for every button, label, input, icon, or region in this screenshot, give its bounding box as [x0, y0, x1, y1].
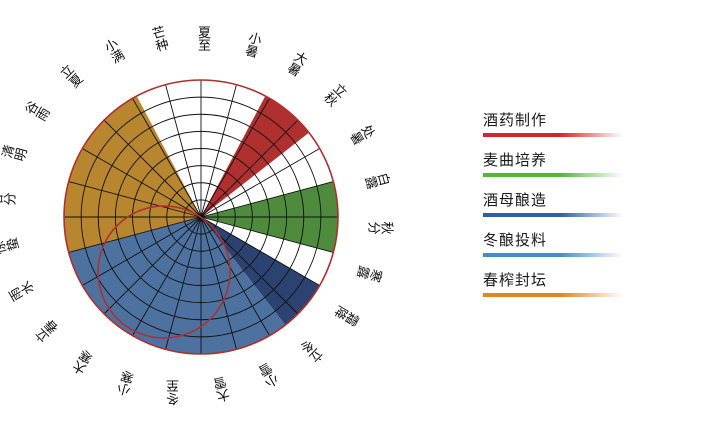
solar-term-label: 冬至	[166, 379, 179, 405]
legend-color-bar	[483, 133, 623, 137]
legend-item-label: 酒母酿造	[483, 192, 633, 211]
legend-item[interactable]: 酒药制作	[483, 112, 633, 137]
legend-color-bar	[483, 173, 623, 177]
legend-color-bar	[483, 293, 623, 297]
legend-item-label: 麦曲培养	[483, 152, 633, 171]
legend-item-label: 春榨封坛	[483, 272, 633, 291]
legend-item[interactable]: 冬酿投料	[483, 232, 633, 257]
legend-item-label: 酒药制作	[483, 112, 633, 131]
legend-color-bar	[483, 253, 623, 257]
legend-color-bar	[483, 213, 623, 217]
legend: 酒药制作 麦曲培养 酒母酿造 冬酿投料 春榨封坛	[483, 112, 633, 312]
solar-term-label: 秋分	[368, 222, 394, 235]
solar-term-label: 夏至	[198, 26, 211, 52]
legend-item[interactable]: 酒母酿造	[483, 192, 633, 217]
solar-term-label: 春分	[0, 193, 17, 206]
legend-item-label: 冬酿投料	[483, 232, 633, 251]
chart-page: 夏至小暑大暑立秋处暑白露秋分寒露霜降立冬小雪大雪冬至小寒大寒立春雨水惊蛰春分清明…	[0, 0, 722, 440]
legend-item[interactable]: 麦曲培养	[483, 152, 633, 177]
legend-item[interactable]: 春榨封坛	[483, 272, 633, 297]
solar-term-polar-chart: 夏至小暑大暑立秋处暑白露秋分寒露霜降立冬小雪大雪冬至小寒大寒立春雨水惊蛰春分清明…	[0, 0, 440, 440]
